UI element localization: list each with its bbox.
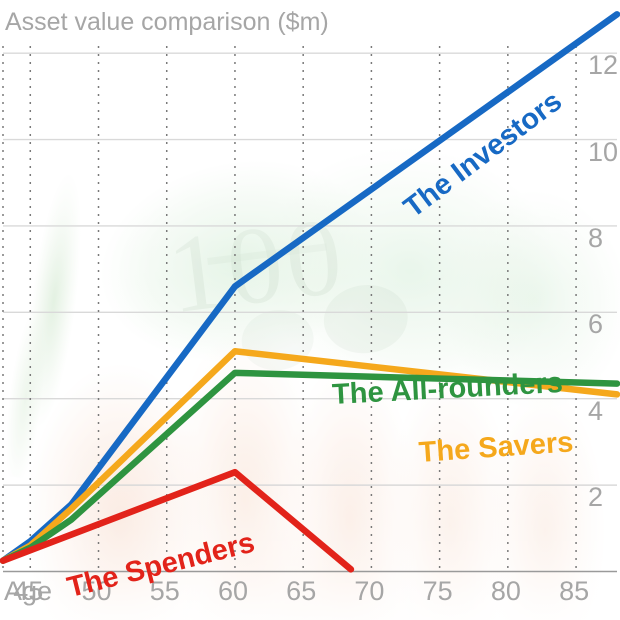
- y-axis-tick: 12: [588, 52, 618, 79]
- y-axis-tick: 10: [588, 139, 618, 166]
- series-line: [3, 14, 617, 560]
- series-polylines: [3, 14, 617, 569]
- y-axis-tick: 4: [588, 398, 603, 425]
- x-axis-tick: 45: [13, 578, 43, 605]
- x-axis-tick: 80: [491, 578, 521, 605]
- page-title: Asset value comparison ($m): [5, 8, 329, 37]
- chart-container: 100 Asset value comparison ($m) 24681012…: [0, 0, 620, 620]
- x-axis-tick: 70: [354, 578, 384, 605]
- x-axis-tick: 60: [218, 578, 248, 605]
- x-axis-tick: 85: [559, 578, 589, 605]
- plot-area: [0, 0, 620, 620]
- y-axis-tick: 8: [588, 225, 603, 252]
- x-axis-tick: 75: [423, 578, 453, 605]
- x-axis-tick: 65: [286, 578, 316, 605]
- y-axis-tick: 2: [588, 484, 603, 511]
- y-axis-tick: 6: [588, 311, 603, 338]
